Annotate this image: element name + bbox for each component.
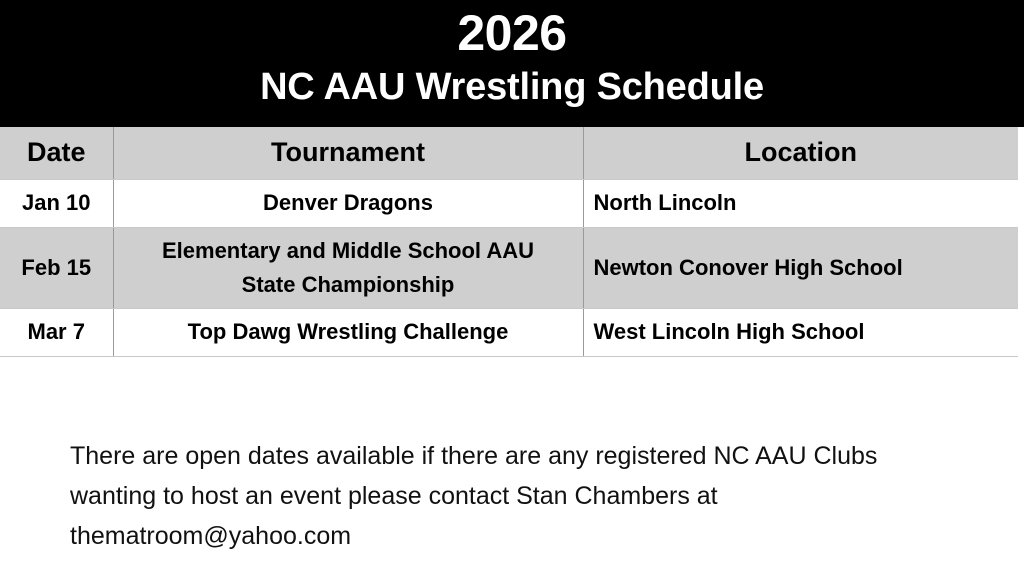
column-header-date: Date (0, 127, 113, 179)
table-row: Mar 7 Top Dawg Wrestling Challenge West … (0, 308, 1018, 356)
year-heading: 2026 (0, 0, 1024, 62)
cell-tournament: Denver Dragons (113, 179, 583, 227)
contact-note: There are open dates available if there … (70, 436, 930, 556)
tournament-line: Elementary and Middle School AAU (162, 238, 534, 263)
cell-location: West Lincoln High School (583, 308, 1018, 356)
schedule-table: Date Tournament Location Jan 10 Denver D… (0, 127, 1018, 357)
tournament-line: State Championship (242, 272, 455, 297)
cell-tournament: Top Dawg Wrestling Challenge (113, 308, 583, 356)
cell-location: Newton Conover High School (583, 227, 1018, 308)
cell-date: Feb 15 (0, 227, 113, 308)
cell-date: Jan 10 (0, 179, 113, 227)
column-header-tournament: Tournament (113, 127, 583, 179)
tournament-line: Top Dawg Wrestling Challenge (188, 319, 509, 344)
table-header-row: Date Tournament Location (0, 127, 1018, 179)
schedule-table-container: Date Tournament Location Jan 10 Denver D… (0, 127, 1018, 357)
table-row: Jan 10 Denver Dragons North Lincoln (0, 179, 1018, 227)
cell-tournament: Elementary and Middle School AAU State C… (113, 227, 583, 308)
header-banner: 2026 NC AAU Wrestling Schedule (0, 0, 1024, 127)
column-header-location: Location (583, 127, 1018, 179)
tournament-line: Denver Dragons (263, 190, 433, 215)
table-row: Feb 15 Elementary and Middle School AAU … (0, 227, 1018, 308)
cell-date: Mar 7 (0, 308, 113, 356)
page-title: NC AAU Wrestling Schedule (0, 62, 1024, 110)
schedule-flyer: 2026 NC AAU Wrestling Schedule Date Tour… (0, 0, 1024, 572)
cell-location: North Lincoln (583, 179, 1018, 227)
